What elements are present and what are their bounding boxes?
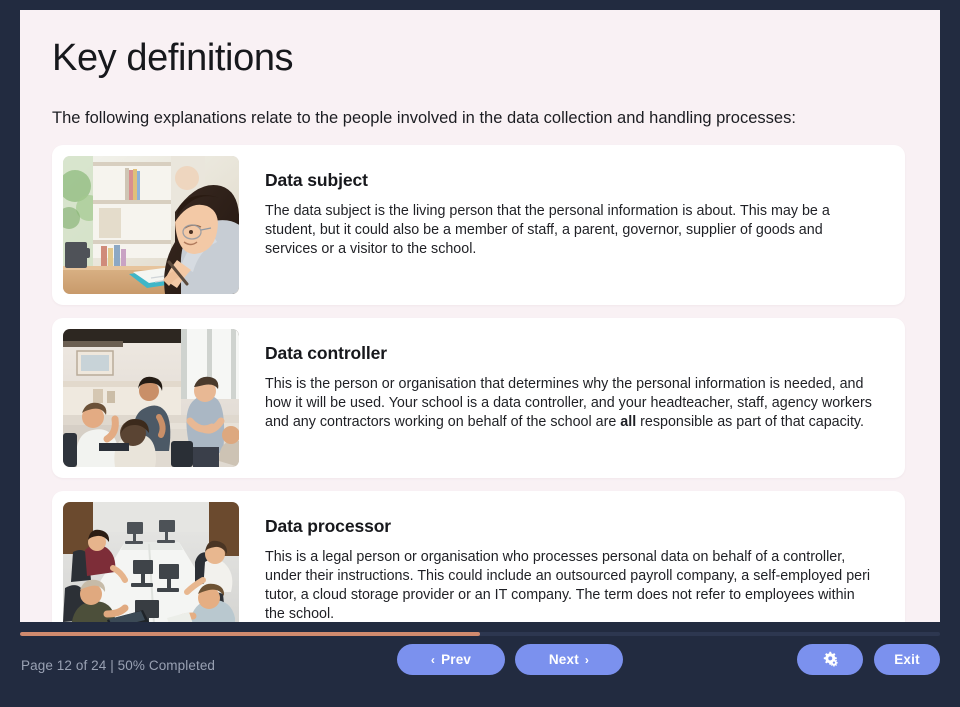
prev-button[interactable]: ‹ Prev [397,644,505,675]
cogs-icon [821,650,840,669]
progress-bar-track[interactable] [20,632,940,636]
definition-card-text: This is the person or organisation that … [265,375,874,432]
chevron-right-icon: › [585,654,589,666]
card-text-part-1: This is a legal person or organisation w… [265,549,870,622]
slide-frame: Key definitions The following explanatio… [0,0,960,707]
definition-card-heading: Data controller [265,343,874,364]
definition-card: Data controller This is the person or or… [52,318,905,478]
office-workstations-photo [63,502,239,622]
next-button-label: Next [549,652,579,667]
card-text-bold: all [620,414,636,430]
utility-controls: Exit [797,644,940,675]
definition-card-list: Data subject The data subject is the liv… [52,145,905,622]
progress-bar-fill [20,632,480,636]
footer-bar: Page 12 of 24 | 50% Completed ‹ Prev Nex… [0,640,960,707]
exit-button[interactable]: Exit [874,644,940,675]
settings-button[interactable] [797,644,863,675]
page-indicator: Page 12 of 24 | 50% Completed [21,658,215,673]
chevron-left-icon: ‹ [431,654,435,666]
card-text-part-1: The data subject is the living person th… [265,203,830,257]
definition-card-body: Data processor This is a legal person or… [239,502,894,622]
definition-card: Data processor This is a legal person or… [52,491,905,622]
office-team-meeting-photo [63,329,239,467]
slide-content-panel: Key definitions The following explanatio… [20,10,940,622]
next-button[interactable]: Next › [515,644,623,675]
definition-card-heading: Data subject [265,170,874,191]
page-subtitle: The following explanations relate to the… [52,108,922,129]
card-text-part-2: responsible as part of that capacity. [636,414,864,430]
definition-card-body: Data controller This is the person or or… [239,329,894,438]
definition-card-text: The data subject is the living person th… [265,202,874,259]
definition-card-heading: Data processor [265,516,874,537]
navigation-controls: ‹ Prev Next › [397,644,623,675]
definition-card: Data subject The data subject is the liv… [52,145,905,305]
woman-writing-at-desk-photo [63,156,239,294]
definition-card-text: This is a legal person or organisation w… [265,548,874,622]
definition-card-body: Data subject The data subject is the liv… [239,156,894,265]
exit-button-label: Exit [894,652,920,667]
prev-button-label: Prev [441,652,471,667]
page-title: Key definitions [52,38,293,80]
